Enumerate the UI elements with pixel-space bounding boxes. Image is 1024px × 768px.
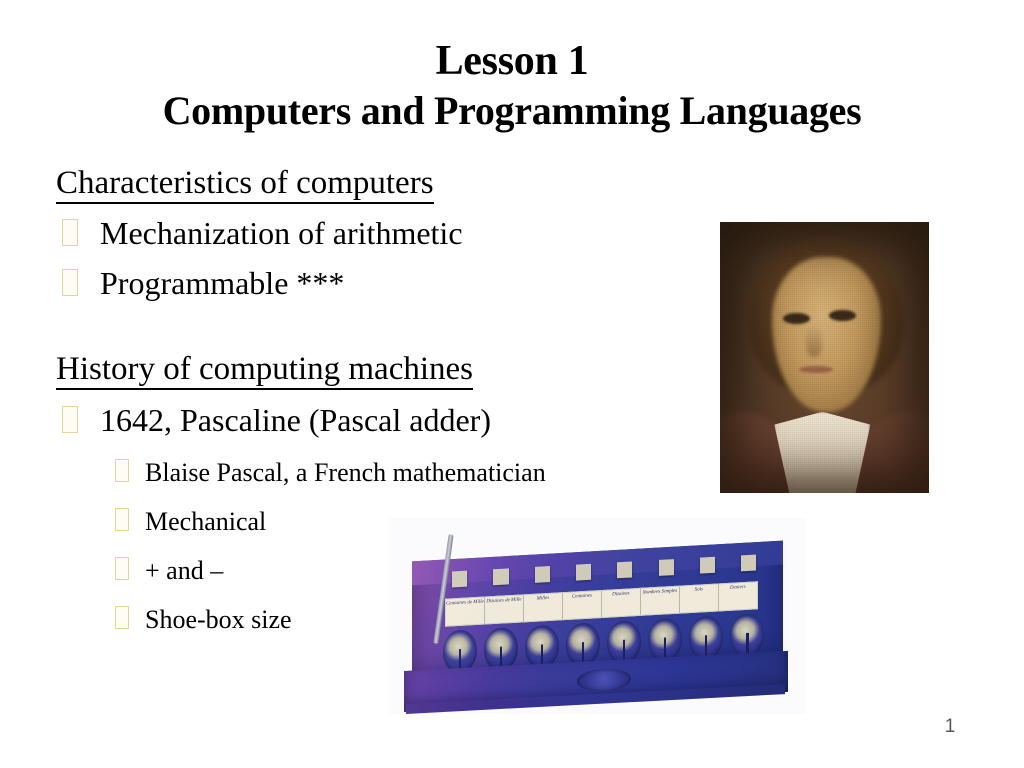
- list-item-label: + and –: [145, 555, 223, 587]
- list-item: Mechanization of arithmetic: [62, 214, 463, 252]
- pascaline-slot: [534, 566, 549, 583]
- section-heading-text: Characteristics of computers: [56, 165, 434, 204]
- bullet-square-icon: [115, 557, 129, 580]
- bullet-square-icon: [62, 269, 78, 296]
- blaise-pascal-portrait-image: [720, 222, 929, 493]
- title-line-1: Lesson 1: [0, 36, 1024, 86]
- pascaline-machine-image: Centaines de Mille Dizaines de Mille Mil…: [389, 518, 806, 714]
- pascaline-slot: [741, 555, 756, 572]
- page-title: Lesson 1 Computers and Programming Langu…: [0, 36, 1024, 136]
- list-item-label: Programmable ***: [100, 264, 344, 302]
- pascaline-slot: [493, 568, 508, 585]
- list-item: Blaise Pascal, a French mathematician: [115, 457, 546, 489]
- list-item-label: 1642, Pascaline (Pascal adder): [100, 401, 491, 439]
- pascaline-slot: [699, 557, 714, 574]
- section-heading-characteristics: Characteristics of computers: [56, 164, 434, 202]
- pascaline-slot: [658, 559, 673, 576]
- page-number: 1: [930, 716, 970, 738]
- pascaline-dial-label: Milles: [524, 593, 563, 622]
- bullet-square-icon: [62, 406, 78, 433]
- list-item-label: Shoe-box size: [145, 604, 292, 636]
- portrait-vignette: [720, 222, 929, 493]
- list-item: Mechanical: [115, 506, 266, 538]
- pascaline-dial: [731, 613, 765, 658]
- pascaline-dial-label: Dizaines: [602, 588, 641, 617]
- section-heading-text: History of computing machines: [56, 351, 473, 390]
- list-item: Programmable ***: [62, 264, 344, 302]
- section-heading-history: History of computing machines: [56, 350, 473, 388]
- pascaline-dial-label: Dizaines de Mille: [485, 595, 524, 624]
- list-item: 1642, Pascaline (Pascal adder): [62, 401, 491, 439]
- pascaline-dial-label: Deniers: [719, 582, 757, 611]
- pascaline-dial-label: Nombres Simples: [641, 586, 680, 615]
- bullet-square-icon: [115, 606, 129, 629]
- bullet-square-icon: [62, 219, 78, 246]
- bullet-square-icon: [115, 459, 129, 482]
- pascaline-dial-label: Sols: [680, 584, 719, 613]
- list-item-label: Mechanical: [145, 506, 266, 538]
- list-item-label: Blaise Pascal, a French mathematician: [145, 457, 546, 489]
- list-item: + and –: [115, 555, 223, 587]
- list-item: Shoe-box size: [115, 604, 292, 636]
- list-item-label: Mechanization of arithmetic: [100, 214, 463, 252]
- bullet-square-icon: [115, 508, 129, 531]
- pascaline-slot: [575, 564, 590, 581]
- slide-canvas: Lesson 1 Computers and Programming Langu…: [0, 0, 1024, 768]
- pascaline-slot: [617, 561, 632, 578]
- pascaline-dial-label: Centaines: [563, 591, 602, 620]
- pascaline-slot: [452, 571, 467, 588]
- pascaline-dial: [689, 615, 723, 660]
- title-line-2: Computers and Programming Languages: [0, 86, 1024, 136]
- pascaline-dial-label: Centaines de Mille: [446, 597, 485, 626]
